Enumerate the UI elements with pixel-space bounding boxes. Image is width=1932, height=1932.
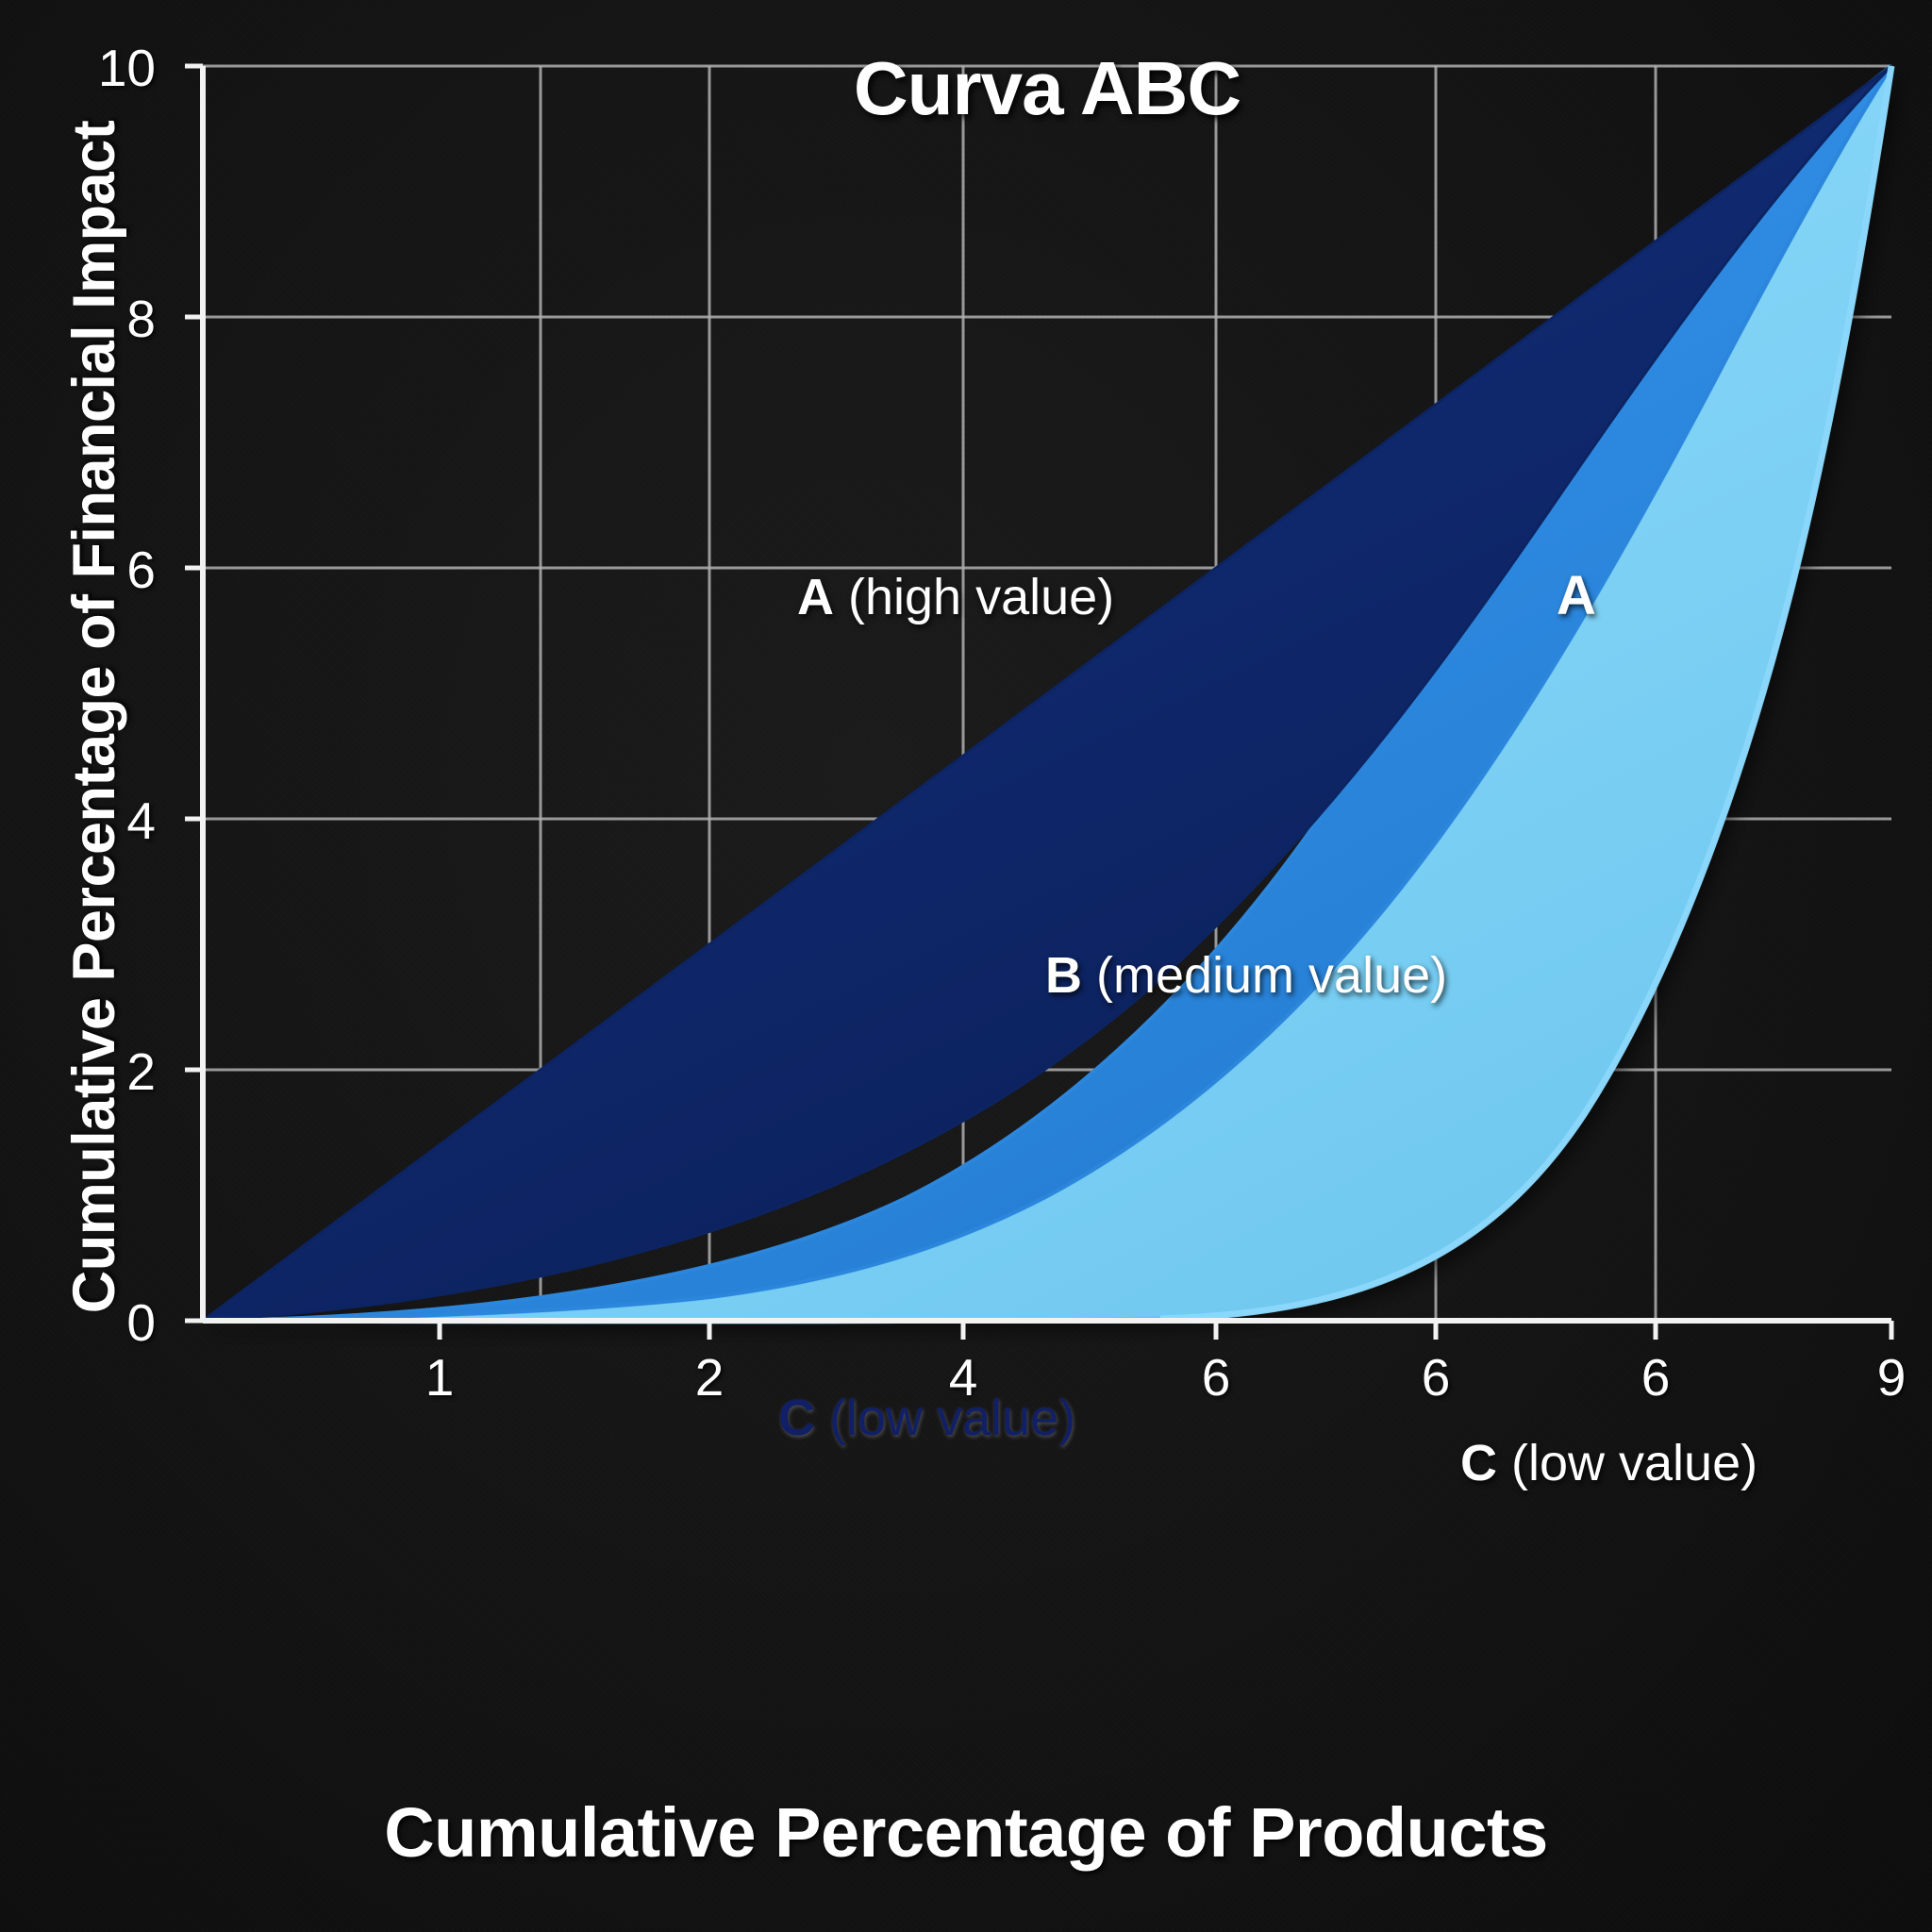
annotation-b-text: (medium value) xyxy=(1082,947,1447,1004)
annotation-a-letter: A xyxy=(1557,564,1596,627)
annotation-c-low-value-inner: C (low value) xyxy=(778,1389,1075,1447)
y-tick-label-0: 0 xyxy=(42,1292,156,1353)
x-tick-label-3: 6 xyxy=(1159,1347,1273,1407)
y-tick-label-2: 2 xyxy=(42,1041,156,1102)
y-tick-label-10: 10 xyxy=(42,38,156,98)
x-tick-label-0: 1 xyxy=(383,1347,496,1407)
annotation-c-low-value-outer: C (low value) xyxy=(1460,1434,1757,1492)
annotation-b-key: B xyxy=(1045,947,1082,1004)
chart-title: Curva ABC xyxy=(203,45,1891,132)
x-tick-label-1: 2 xyxy=(653,1347,766,1407)
annotation-b-medium-value: B (medium value) xyxy=(1045,946,1447,1005)
x-tick-label-6: 9 xyxy=(1835,1347,1932,1407)
annotation-c-outer-key: C xyxy=(1460,1435,1497,1491)
x-tick-label-4: 6 xyxy=(1379,1347,1492,1407)
annotation-c-inner-text: (low value) xyxy=(815,1390,1075,1446)
annotation-a-key: A xyxy=(797,569,834,625)
plot-area xyxy=(0,0,1932,1932)
y-tick-label-6: 6 xyxy=(42,540,156,600)
annotation-a-high-value: A (high value) xyxy=(797,568,1114,626)
chart-figure: Curva ABC Cumulative Percentage of Produ… xyxy=(0,0,1932,1932)
y-tick-label-4: 4 xyxy=(42,791,156,851)
y-tick-label-8: 8 xyxy=(42,289,156,349)
annotation-a-text: (high value) xyxy=(834,569,1114,625)
annotation-c-inner-key: C xyxy=(778,1390,815,1446)
x-tick-label-5: 6 xyxy=(1599,1347,1712,1407)
annotation-c-outer-text: (low value) xyxy=(1497,1435,1757,1491)
